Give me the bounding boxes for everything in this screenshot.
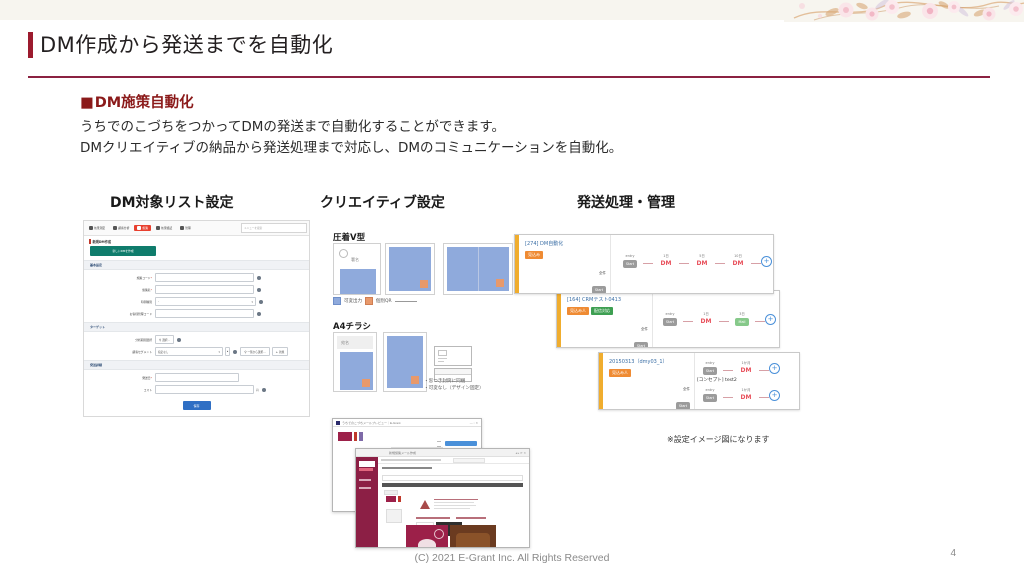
target-label: 顧客セグメント — [90, 350, 155, 354]
browser-mockup-front: 新規施策メール作成 ◂ ▸ ⟳ ✕ — [355, 448, 530, 548]
sheet-name-label: 宛名 — [341, 340, 349, 346]
card-left: [274] DM自動化 見込み 全件 Start — [519, 235, 611, 293]
flow-step[interactable]: 1日 DM — [693, 311, 719, 326]
browser-window-controls-icon: — ▫ ✕ — [470, 421, 478, 425]
field-row[interactable] — [382, 475, 523, 481]
add-step-button[interactable]: + — [769, 363, 780, 374]
step-node: DM — [701, 318, 712, 326]
toolbar-item-measure[interactable]: 施策 — [134, 225, 151, 231]
browser-favicon-icon — [336, 421, 340, 425]
field-label: 施策名* — [90, 288, 155, 292]
column-heading-shipping: 発送処理・管理 — [577, 192, 675, 212]
field-label: お客様管理コード — [90, 312, 155, 316]
section-accent-bar — [89, 239, 91, 244]
logo-icon — [420, 500, 430, 509]
app-logo-sub-icon — [359, 468, 373, 471]
browser-window-controls-icon: ◂ ▸ ⟳ ✕ — [515, 451, 526, 455]
select-period-button[interactable]: ⚲ 選択... — [155, 335, 174, 344]
flow-connector — [759, 370, 769, 371]
title-divider — [28, 76, 990, 78]
search-icon: ⚲ — [159, 338, 161, 342]
flow-connector — [755, 321, 765, 322]
mail-icon — [137, 226, 141, 230]
send-band: 発送詳細 — [84, 360, 309, 370]
app-toolbar — [378, 457, 529, 464]
footer-copyright: (C) 2021 E-Grant Inc. All Rights Reserve… — [0, 552, 1024, 564]
text-line — [456, 517, 486, 519]
card-sub-title: [コンセプト] test2 — [697, 377, 737, 383]
v-type-sheet-left: 署名 — [333, 243, 381, 295]
browser-tab-title: うちでのこづちメールプレビュー｜E-Grant — [342, 421, 401, 425]
step-node: Start — [663, 318, 677, 326]
target-label: 分析期間選択 — [90, 338, 155, 342]
envelope-flap — [435, 369, 471, 375]
qr-block-icon — [362, 379, 370, 387]
flow-connector — [759, 397, 769, 398]
sidebar-item[interactable] — [359, 479, 371, 481]
lead-heading-text: DM施策自動化 — [95, 95, 194, 111]
lead-heading: ■DM施策自動化 — [80, 94, 960, 114]
status-badge: 見込み人 — [609, 369, 631, 377]
add-step-button[interactable]: + — [761, 256, 772, 267]
help-icon[interactable] — [233, 350, 237, 354]
search-icon: ⚲ — [244, 350, 246, 354]
chart-icon — [89, 226, 93, 230]
workflow-card-2[interactable]: [164] CRMテスト0413 見込み人 配信対応 全件 Start entr… — [556, 290, 780, 348]
send-row: 発送日* — [84, 373, 309, 382]
browser-tab-title: 新規施策メール作成 — [389, 451, 416, 455]
circle-marker-icon — [339, 249, 348, 258]
step-tick: entry — [626, 254, 635, 258]
thumbnail-image — [359, 432, 363, 441]
a4-sheet-left: 宛名 — [333, 332, 377, 392]
title-text: DM作成から発送までを自動化 — [40, 35, 333, 56]
entry-node[interactable]: Start — [676, 402, 690, 410]
toolbar-label: 施策 — [142, 226, 148, 230]
text-line — [434, 499, 478, 500]
flow-row: entry Start 1日 DM 3日 Mail + — [657, 311, 776, 326]
legend-swatch-orange-icon — [365, 297, 373, 305]
slide-root: DM作成から発送までを自動化 ■DM施策自動化 うちでのこづちをつかってDMの発… — [0, 0, 1024, 573]
v-type-sheet-right — [443, 243, 513, 295]
flow-step[interactable]: 1か月 DM — [733, 360, 759, 375]
bullet-square-icon: ■ — [80, 95, 94, 111]
search-input[interactable] — [453, 458, 485, 463]
step-tick: 1か月 — [742, 387, 751, 392]
card-right: entry Start 1か月 DM + [コンセプト] test2 entry… — [695, 353, 799, 409]
entry-caption: 全件 — [567, 327, 648, 332]
workflow-card-3[interactable]: 20150313（dmy03_1） 見込み人 全件 Start entry St… — [598, 352, 800, 410]
card-title: [274] DM自動化 — [525, 240, 610, 247]
flow-row-sub: entry Start 1か月 DM + — [697, 387, 795, 402]
toolbar-item-admin[interactable]: 管理 — [177, 225, 194, 231]
create-new-dm-button[interactable]: 新しいDMを作成 — [90, 246, 156, 256]
text-line — [434, 505, 476, 506]
segment-add-label: 新規 — [279, 350, 284, 354]
field-row: お客様管理コード — [84, 309, 309, 318]
segment-add-button[interactable]: + 新規 — [272, 347, 289, 356]
lead-line-2: DMクリエイティブの納品から発送処理まで対応し、DMのコミュニケーションを自動化… — [80, 138, 960, 159]
send-row: コスト 円 — [84, 385, 309, 394]
segment-select[interactable]: 指定なし ▾ — [155, 347, 223, 356]
help-icon[interactable] — [259, 300, 263, 304]
card-right: entry Start 1日 DM 3日 Mail + — [653, 291, 780, 347]
step-tick: 1か月 — [742, 360, 751, 365]
step-tick: 3日 — [739, 311, 745, 316]
status-badge: 配信対応 — [591, 307, 613, 315]
send-label: 発送日* — [90, 376, 155, 380]
text-line — [437, 446, 441, 447]
cost-unit: 円 — [256, 388, 259, 392]
card-left: 20150313（dmy03_1） 見込み人 全件 Start — [603, 353, 695, 409]
segment-value: 指定なし — [158, 350, 168, 354]
browser-tab-bar: うちでのこづちメールプレビュー｜E-Grant — ▫ ✕ — [333, 419, 481, 427]
qr-block-icon — [496, 279, 504, 287]
add-step-button[interactable]: + — [765, 314, 776, 325]
lead-block: ■DM施策自動化 うちでのこづちをつかってDMの発送まで自動化することができます… — [80, 94, 960, 159]
app-toolbar: 効果測定 顧客分析 施策 効果検証 管理 メニューを検索 — [84, 221, 309, 236]
v-type-sheet-middle — [385, 243, 435, 295]
entry-node[interactable]: Start — [592, 286, 606, 294]
fold-line — [478, 247, 479, 291]
step-tick: 1日 — [703, 311, 709, 316]
field-input-code[interactable] — [155, 273, 254, 282]
save-button[interactable]: 保存 — [183, 401, 211, 410]
flow-connector — [683, 321, 693, 322]
legend-label-variable: 可変出力 — [344, 298, 362, 304]
dm-list-setting-panel: 効果測定 顧客分析 施策 効果検証 管理 メニューを検索 新規DM作成 — [83, 220, 310, 417]
flow-row: entry Start 1日 DM 5日 DM 10日 DM — [617, 253, 772, 268]
status-badge: 見込み — [525, 251, 543, 259]
thumbnail-image — [398, 496, 401, 502]
card-left: [164] CRMテスト0413 見込み人 配信対応 全件 Start — [561, 291, 653, 347]
sidebar-item[interactable] — [359, 487, 371, 489]
required-mark-icon: * — [151, 276, 152, 280]
field-select-print-type[interactable]: - ▾ — [155, 297, 256, 306]
card-badges: 見込み人 配信対応 — [567, 307, 652, 315]
flow-row: entry Start 1か月 DM + — [697, 360, 795, 375]
help-icon[interactable] — [177, 338, 181, 342]
step-node: DM — [697, 260, 708, 268]
field-label: 施策コード* — [90, 276, 155, 280]
help-icon[interactable] — [262, 388, 266, 392]
toolbar-item-effect[interactable]: 効果測定 — [86, 225, 108, 231]
create-new-dm-label: 新しいDMを作成 — [112, 249, 133, 253]
envelope-note-1: ・窓つき封筒に同梱 — [424, 379, 484, 386]
qr-block-icon — [420, 280, 428, 288]
legend-label-qr: 個別QR — [376, 298, 392, 304]
step-tick: 5日 — [699, 253, 705, 258]
required-mark-icon: * — [151, 376, 152, 380]
sheet-name-label: 署名 — [351, 257, 359, 263]
step-node: Start — [623, 260, 637, 268]
gear-icon — [180, 226, 184, 230]
target-band: ターゲット — [84, 322, 309, 332]
preview-card — [386, 509, 402, 523]
variable-area-block — [387, 336, 423, 388]
toolbar-item-customer[interactable]: 顧客分析 — [110, 225, 132, 231]
required-mark-icon: * — [151, 288, 152, 292]
flow-step[interactable]: entry Start — [697, 361, 723, 375]
flow-connector — [715, 263, 725, 264]
card-badges: 見込み人 — [609, 369, 694, 377]
field-row: 施策コード* — [84, 273, 309, 282]
chevron-down-icon: ▾ — [251, 300, 253, 304]
window-envelope-front — [434, 346, 472, 366]
envelope-line — [438, 361, 444, 362]
field-input-name[interactable] — [155, 285, 254, 294]
flow-step[interactable]: 1日 DM — [653, 253, 679, 268]
app-logo-icon — [359, 461, 375, 467]
entry-node[interactable]: Start — [634, 342, 648, 348]
segment-pick-label: 一覧から選択... — [248, 350, 266, 354]
flow-step[interactable]: entry Start — [657, 312, 683, 326]
step-tick: 1日 — [663, 253, 669, 258]
envelope-notes: ・窓つき封筒に同梱 ・可変なし（デザイン固定） — [424, 379, 484, 393]
flow-step[interactable]: 5日 DM — [689, 253, 715, 268]
column-heading-creative: クリエイティブ設定 — [320, 192, 445, 212]
app-sidebar — [356, 457, 378, 548]
segment-pick-button[interactable]: ⚲ 一覧から選択... — [240, 347, 269, 356]
flow-step[interactable]: entry Start — [617, 254, 643, 268]
browser-content — [356, 457, 529, 548]
card-right: entry Start 1日 DM 5日 DM 10日 DM — [611, 235, 774, 293]
entry-caption: 全件 — [525, 271, 606, 276]
flow-connector — [723, 397, 733, 398]
flow-step[interactable]: 3日 Mail — [729, 311, 755, 326]
flow-step[interactable]: 10日 DM — [725, 253, 751, 268]
creative-label-v-type: 圧着V型 — [333, 231, 365, 243]
sakura-decoration-icon — [784, 0, 1024, 22]
text-line — [434, 502, 474, 503]
text-line — [434, 508, 470, 509]
variable-area-block — [340, 269, 376, 294]
target-row: 顧客セグメント 指定なし ▾ ▸ ⚲ 一覧から選択... + 新規 — [84, 347, 309, 356]
entry-caption: 全件 — [609, 387, 690, 392]
field-input-customer-code[interactable] — [155, 309, 254, 318]
help-icon[interactable] — [257, 312, 261, 316]
send-date-input[interactable] — [155, 373, 239, 382]
product-image — [418, 539, 436, 548]
thumbnail-image — [354, 432, 357, 441]
add-step-button[interactable]: + — [769, 390, 780, 401]
toolbar-button[interactable] — [384, 490, 398, 495]
select-period-label: 選択... — [162, 338, 170, 342]
browser-tab-bar: 新規施策メール作成 ◂ ▸ ⟳ ✕ — [356, 449, 529, 457]
help-icon[interactable] — [257, 288, 261, 292]
field-row: 施策名* — [84, 285, 309, 294]
toolbar-label: 管理 — [185, 226, 191, 230]
promo-image-right — [450, 525, 496, 548]
basic-settings-band: 基本設定 — [84, 260, 309, 270]
toolbar-label: 効果測定 — [94, 226, 105, 230]
page-number: 4 — [950, 548, 956, 559]
user-icon — [113, 226, 117, 230]
a4-sheet-right — [383, 332, 427, 392]
creative-legend: 可変出力 個別QR — [333, 297, 417, 305]
envelope-window — [438, 350, 447, 356]
select-value: - — [158, 300, 159, 303]
thumbnail-image — [338, 432, 352, 441]
thumbnail-image — [386, 496, 396, 502]
step-node: Start — [703, 394, 717, 402]
page-title: DM作成から発送までを自動化 — [28, 28, 978, 62]
field-label: 印刷種別 — [90, 300, 155, 304]
flow-connector — [679, 263, 689, 264]
cost-input[interactable] — [155, 385, 254, 394]
status-badge: 見込み人 — [567, 307, 589, 315]
promo-image-left — [406, 525, 448, 548]
toolbar-items — [381, 459, 441, 461]
primary-action-bar[interactable] — [445, 441, 477, 446]
qr-block-icon — [411, 376, 419, 384]
page-heading — [382, 467, 432, 469]
step-node: DM — [661, 260, 672, 268]
step-node: DM — [741, 394, 752, 402]
card-title: [164] CRMテスト0413 — [567, 296, 652, 303]
new-dm-section-title: 新規DM作成 — [84, 236, 309, 246]
flow-step[interactable]: entry Start — [697, 388, 723, 402]
section-bar — [382, 483, 523, 487]
badge-circle-icon — [434, 529, 444, 539]
creative-label-a4: A4チラシ — [333, 320, 371, 332]
text-line — [416, 517, 450, 519]
segment-next-button[interactable]: ▸ — [225, 347, 230, 356]
email-header-preview — [416, 497, 486, 515]
menu-search-input[interactable]: メニューを検索 — [241, 223, 307, 233]
chevron-down-icon: ▾ — [218, 350, 220, 354]
flow-connector — [719, 321, 729, 322]
step-tick: 10日 — [734, 253, 742, 258]
send-label: コスト — [90, 388, 155, 392]
target-row: 分析期間選択 ⚲ 選択... — [84, 335, 309, 344]
step-tick: entry — [706, 361, 715, 365]
envelope-note-2: ・可変なし（デザイン固定） — [424, 386, 484, 393]
toolbar-item-verify[interactable]: 効果検証 — [153, 225, 175, 231]
plus-icon: + — [276, 350, 279, 354]
help-icon[interactable] — [257, 276, 261, 280]
flow-connector — [643, 263, 653, 264]
variable-area-block — [340, 352, 373, 390]
product-image — [456, 533, 490, 548]
toolbar-label: 効果検証 — [161, 226, 172, 230]
card-badges: 見込み — [525, 251, 610, 259]
workflow-card-1[interactable]: [274] DM自動化 見込み 全件 Start entry Start 1日 … — [514, 234, 774, 294]
legend-swatch-blue-icon — [333, 297, 341, 305]
section-title-text: 新規DM作成 — [93, 239, 112, 244]
field-row: 印刷種別 - ▾ — [84, 297, 309, 306]
step-node: Mail — [735, 318, 749, 326]
flow-step[interactable]: 1か月 DM — [733, 387, 759, 402]
legend-line-icon — [395, 301, 417, 302]
toolbar-label: 顧客分析 — [118, 226, 129, 230]
bars-icon — [156, 226, 160, 230]
envelope-line — [438, 358, 447, 359]
step-node: Start — [703, 367, 717, 375]
text-line — [437, 441, 441, 442]
step-tick: entry — [666, 312, 675, 316]
variable-area-block — [389, 247, 431, 291]
image-disclaimer-note: ※設定イメージ図になります — [667, 434, 770, 445]
card-title: 20150313（dmy03_1） — [609, 358, 694, 365]
flow-connector — [751, 263, 761, 264]
step-node: DM — [741, 367, 752, 375]
flow-connector — [723, 370, 733, 371]
lead-line-1: うちでのこづちをつかってDMの発送まで自動化することができます。 — [80, 117, 960, 138]
column-heading-list: DM対象リスト設定 — [110, 192, 234, 212]
title-accent-bar — [28, 32, 33, 58]
step-tick: entry — [706, 388, 715, 392]
variable-area-block — [447, 247, 509, 291]
step-node: DM — [733, 260, 744, 268]
